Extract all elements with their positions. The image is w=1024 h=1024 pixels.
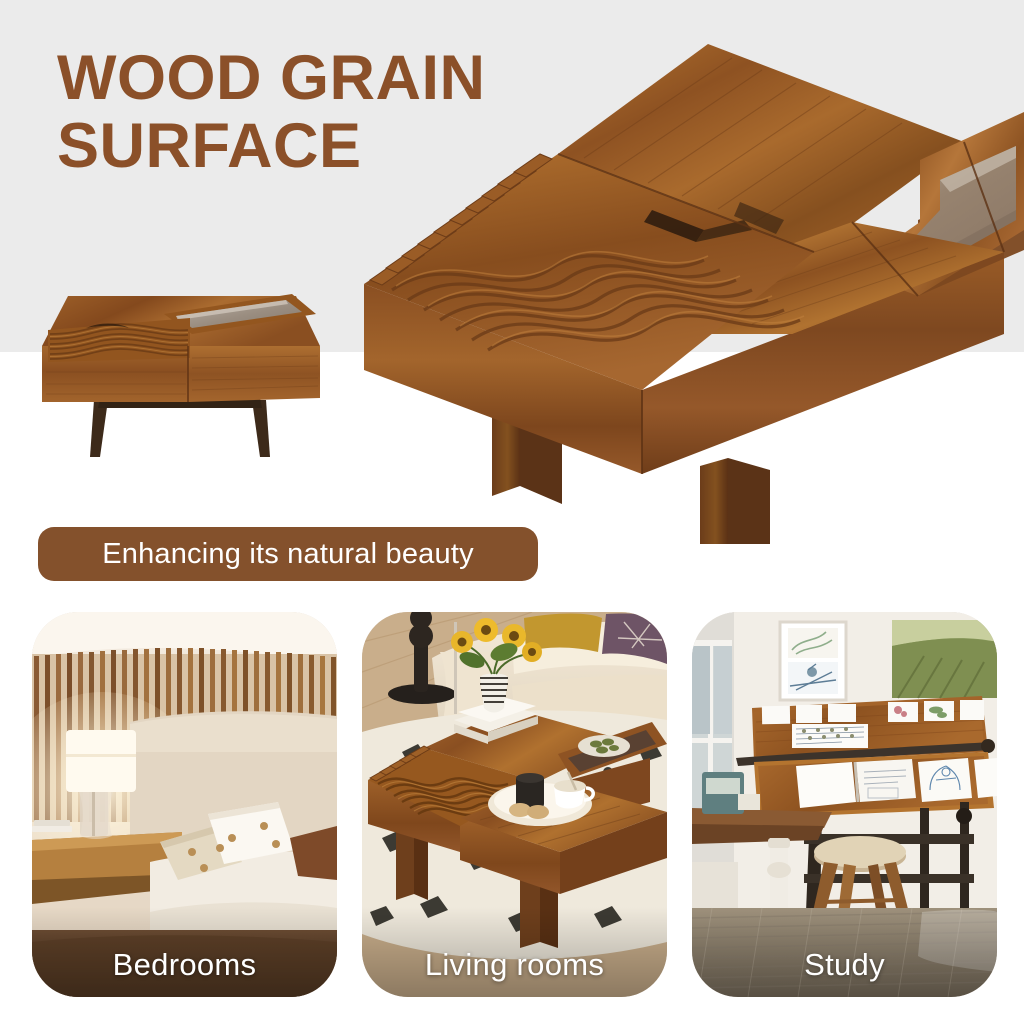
lifestyle-card-bedrooms[interactable]: Bedrooms — [32, 612, 337, 997]
lifestyle-card-row: Bedrooms — [0, 612, 1024, 1004]
tagline-badge: Enhancing its natural beauty — [38, 527, 538, 581]
lifestyle-card-living-rooms[interactable]: Living rooms — [362, 612, 667, 997]
lifestyle-card-study[interactable]: Study — [692, 612, 997, 997]
inset-legs — [90, 398, 270, 457]
tagline-text: Enhancing its natural beauty — [102, 538, 474, 571]
poster-root: WOOD GRAIN SURFACE — [0, 0, 1024, 1024]
page-title-line-2: SURFACE — [57, 112, 527, 180]
inset-front-right — [188, 346, 320, 402]
page-title: WOOD GRAIN SURFACE — [57, 44, 527, 180]
page-title-line-1: WOOD GRAIN — [57, 44, 527, 112]
inset-product-image — [24, 272, 336, 460]
